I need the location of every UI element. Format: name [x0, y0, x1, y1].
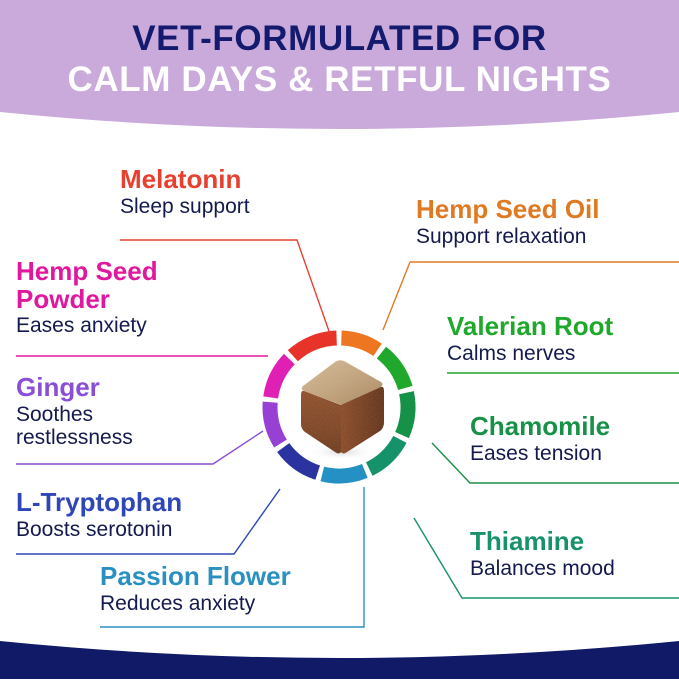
label-valerian-root-name: Valerian Root [447, 313, 613, 341]
label-l-tryptophan-name: L-Tryptophan [16, 489, 182, 517]
label-hemp-seed-powder-desc: Eases anxiety [16, 314, 158, 338]
label-chamomile-desc: Eases tension [470, 442, 610, 466]
ring-segment-chamomile [402, 393, 408, 435]
label-ginger: Ginger Soothes restlessness [16, 374, 133, 450]
leader-hemp-seed-oil-diag [383, 262, 410, 330]
label-melatonin-name: Melatonin [120, 166, 250, 194]
header-title-block: VET-FORMULATED FOR CALM DAYS & RETFUL NI… [0, 0, 679, 120]
label-valerian-root: Valerian Root Calms nerves [447, 313, 613, 365]
label-passion-flower-desc: Reduces anxiety [100, 592, 291, 616]
page-title-line-1: VET-FORMULATED FOR [132, 19, 547, 60]
label-hemp-seed-oil: Hemp Seed Oil Support relaxation [416, 196, 600, 248]
label-chamomile: Chamomile Eases tension [470, 413, 610, 465]
ring-segment-passion-flower [322, 471, 365, 476]
label-passion-flower-name: Passion Flower [100, 563, 291, 591]
infographic-canvas: VET-FORMULATED FOR CALM DAYS & RETFUL NI… [0, 0, 679, 679]
label-thiamine-name: Thiamine [470, 528, 615, 556]
soft-chew-icon [289, 352, 393, 462]
page-title-line-2: CALM DAYS & RETFUL NIGHTS [68, 60, 612, 101]
label-melatonin: Melatonin Sleep support [120, 166, 250, 218]
ring-segment-ginger [270, 402, 280, 443]
label-thiamine: Thiamine Balances mood [470, 528, 615, 580]
label-chamomile-name: Chamomile [470, 413, 610, 441]
label-hemp-seed-oil-name: Hemp Seed Oil [416, 196, 600, 224]
ring-segment-hemp-seed-powder [271, 359, 290, 397]
label-ginger-desc: Soothes restlessness [16, 403, 133, 451]
label-ginger-name: Ginger [16, 374, 133, 402]
label-l-tryptophan-desc: Boosts serotonin [16, 518, 182, 542]
label-melatonin-desc: Sleep support [120, 195, 250, 219]
label-valerian-root-desc: Calms nerves [447, 342, 613, 366]
label-l-tryptophan: L-Tryptophan Boosts serotonin [16, 489, 182, 541]
label-thiamine-desc: Balances mood [470, 557, 615, 581]
label-passion-flower: Passion Flower Reduces anxiety [100, 563, 291, 615]
label-hemp-seed-oil-desc: Support relaxation [416, 225, 600, 249]
ring-segment-hemp-seed-oil [341, 338, 377, 350]
label-hemp-seed-powder-name: Hemp Seed Powder [16, 258, 158, 313]
label-hemp-seed-powder: Hemp Seed Powder Eases anxiety [16, 258, 158, 338]
